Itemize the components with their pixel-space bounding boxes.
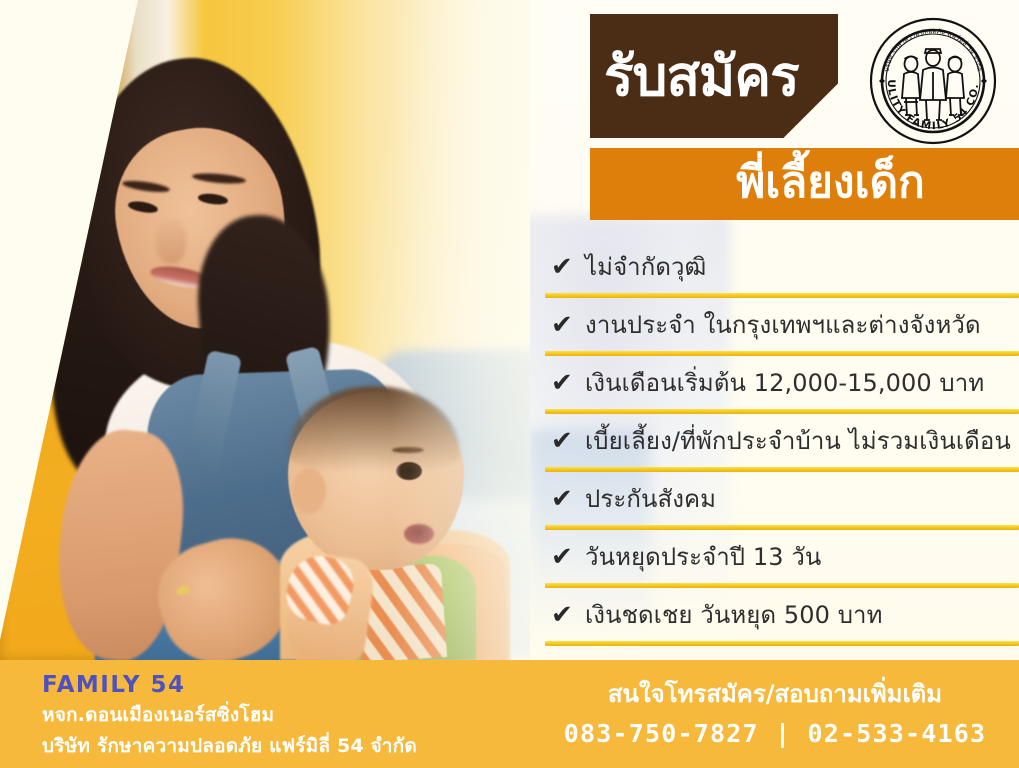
list-item: ✔ วันหยุดประจำปี 13 วัน bbox=[545, 530, 1019, 583]
benefit-text: ไม่จำกัดวุฒิ bbox=[585, 247, 1019, 286]
header-title: รับสมัคร bbox=[596, 26, 826, 126]
benefit-text: เงินชดเชย วันหยุด 500 บาท bbox=[585, 595, 1019, 634]
list-item: ✔ ไม่จำกัดวุฒิ bbox=[545, 240, 1019, 293]
baby-ear bbox=[292, 468, 326, 514]
contact-block: สนใจโทรสมัคร/สอบถามเพิ่มเติม 083-750-782… bbox=[545, 674, 1005, 748]
benefit-text: เงินเดือนเริ่มต้น 12,000-15,000 บาท bbox=[585, 363, 1019, 402]
list-item: ✔ เงินชดเชย วันหยุด 500 บาท bbox=[545, 588, 1019, 641]
contact-label: สนใจโทรสมัคร/สอบถามเพิ่มเติม bbox=[545, 674, 1005, 713]
position-title: พี่เลี้ยงเด็ก bbox=[736, 147, 925, 217]
brand-subtitle-1: หจก.ดอนเมืองเนอร์สซิ่งโฮม bbox=[42, 700, 502, 730]
list-item: ✔ งานประจำ ในกรุงเทพฯและต่างจังหวัด bbox=[545, 298, 1019, 351]
contact-phone-numbers[interactable]: 083-750-7827 | 02-533-4163 bbox=[545, 719, 1005, 748]
benefit-text: เบี้ยเลี้ยง/ที่พักประจำบ้าน ไม่รวมเงินเด… bbox=[585, 421, 1019, 460]
company-seal-logo: SECULITY FAMILY 54 CO.,LTD บริษัท รักษาค… bbox=[866, 14, 1000, 148]
benefit-text: ประกันสังคม bbox=[585, 479, 1019, 518]
check-icon: ✔ bbox=[551, 254, 585, 280]
check-icon: ✔ bbox=[551, 544, 585, 570]
brand-name: FAMILY 54 bbox=[42, 672, 502, 698]
check-icon: ✔ bbox=[551, 428, 585, 454]
list-divider bbox=[545, 641, 1019, 646]
company-identity: FAMILY 54 หจก.ดอนเมืองเนอร์สซิ่งโฮม บริษ… bbox=[42, 672, 502, 761]
list-item: ✔ ประกันสังคม bbox=[545, 472, 1019, 525]
benefit-text: งานประจำ ในกรุงเทพฯและต่างจังหวัด bbox=[585, 305, 1019, 344]
brand-subtitle-2: บริษัท รักษาความปลอดภัย แฟร์มิลี่ 54 จำก… bbox=[42, 731, 502, 761]
benefit-text: วันหยุดประจำปี 13 วัน bbox=[585, 537, 1019, 576]
check-icon: ✔ bbox=[551, 602, 585, 628]
woman-nose bbox=[156, 218, 186, 264]
benefits-list: ✔ ไม่จำกัดวุฒิ ✔ งานประจำ ในกรุงเทพฯและต… bbox=[545, 240, 1019, 646]
list-item: ✔ เงินเดือนเริ่มต้น 12,000-15,000 บาท bbox=[545, 356, 1019, 409]
job-recruitment-poster: รับสมัคร bbox=[0, 0, 1019, 768]
footer-bar: FAMILY 54 หจก.ดอนเมืองเนอร์สซิ่งโฮม บริษ… bbox=[0, 660, 1019, 768]
position-banner: พี่เลี้ยงเด็ก bbox=[590, 148, 1019, 220]
check-icon: ✔ bbox=[551, 312, 585, 338]
hero-photo bbox=[0, 0, 620, 660]
list-item: ✔ เบี้ยเลี้ยง/ที่พักประจำบ้าน ไม่รวมเงิน… bbox=[545, 414, 1019, 467]
check-icon: ✔ bbox=[551, 486, 585, 512]
check-icon: ✔ bbox=[551, 370, 585, 396]
